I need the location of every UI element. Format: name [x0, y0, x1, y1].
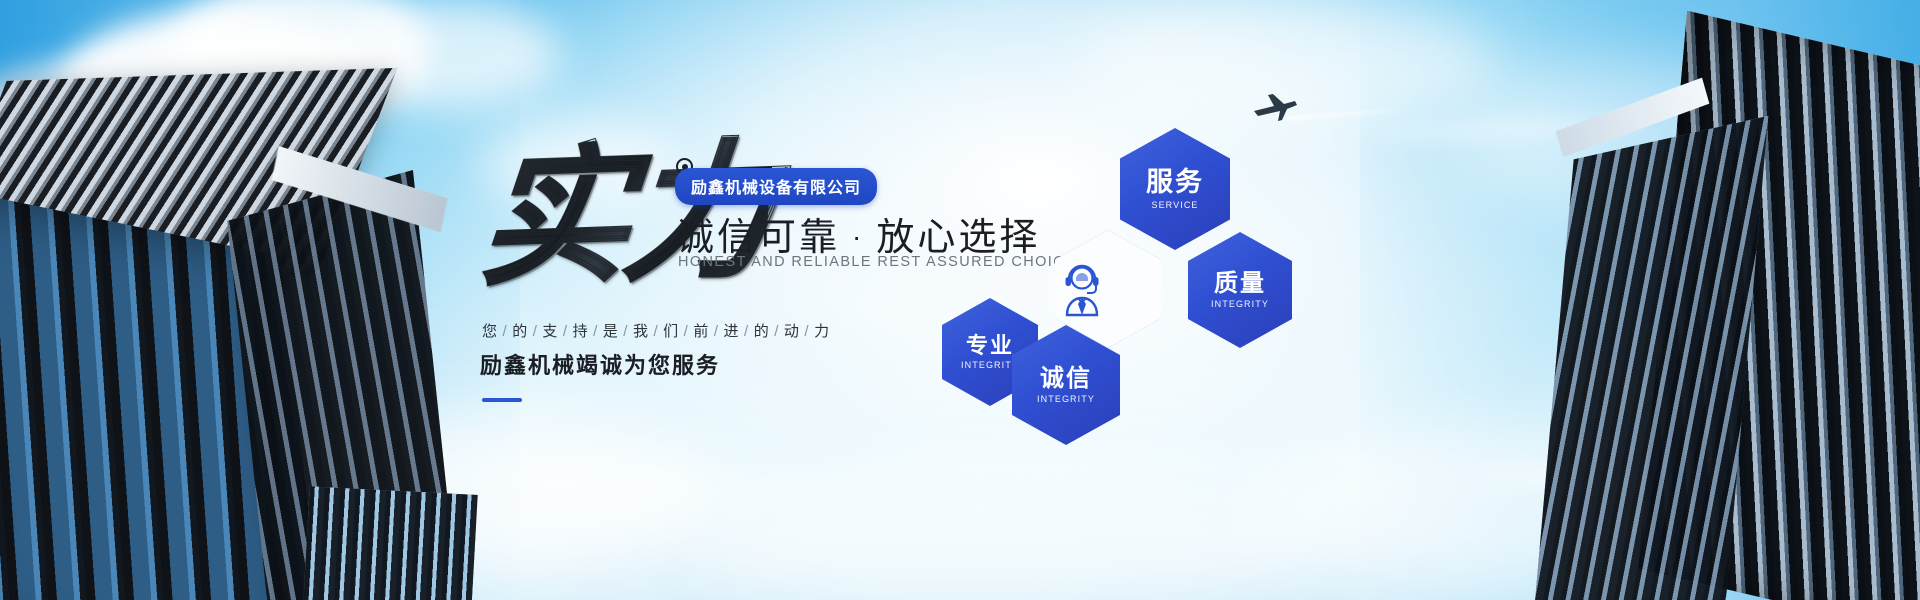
- slogan-char-separator: /: [593, 323, 598, 340]
- slogan-char: 力: [814, 323, 830, 340]
- slogan-char: 持: [573, 323, 589, 340]
- company-name-badge: 励鑫机械设备有限公司: [675, 168, 877, 205]
- slogan-main: 励鑫机械竭诚为您服务: [480, 348, 720, 380]
- slogan-spaced: 您/的/支/持/是/我/们/前/进/的/动/力: [482, 320, 830, 341]
- skyscraper-right: [1524, 42, 1920, 600]
- skyscraper-left: [0, 70, 490, 600]
- slogan-char-separator: /: [774, 323, 779, 340]
- slogan-char: 动: [784, 323, 800, 340]
- hexagon-label-en: INTEGRITY: [961, 360, 1019, 370]
- slogan-char-separator: /: [684, 323, 689, 340]
- hexagon-label-en: SERVICE: [1151, 200, 1198, 210]
- hexagon-badge-group: 服务 SERVICE 质量 INTEGRITY 专业 INTEGRITY 诚信 …: [930, 110, 1310, 420]
- hexagon-label-cn: 诚信: [1040, 366, 1092, 392]
- slogan-char-separator: /: [744, 323, 749, 340]
- slogan-char: 是: [603, 323, 619, 340]
- hexagon-label-cn: 专业: [966, 334, 1014, 358]
- slogan-char: 们: [663, 323, 679, 340]
- hexagon-label-cn: 质量: [1214, 271, 1266, 297]
- hexagon-badge-service: 服务 SERVICE: [1120, 128, 1230, 250]
- tagline-part1: 诚信可靠: [676, 217, 840, 259]
- building-secondary: [299, 486, 477, 600]
- slogan-char-separator: /: [804, 323, 809, 340]
- tagline-separator: ·: [852, 221, 864, 252]
- hexagon-badge-quality: 质量 INTEGRITY: [1188, 232, 1292, 348]
- slogan-char: 您: [482, 323, 498, 340]
- slogan-char-separator: /: [503, 323, 508, 340]
- hexagon-label-en: INTEGRITY: [1037, 394, 1095, 404]
- slogan-char: 我: [633, 323, 649, 340]
- slogan-char-separator: /: [653, 323, 658, 340]
- slogan-char: 的: [754, 323, 770, 340]
- slogan-char: 前: [693, 323, 709, 340]
- slogan-char-separator: /: [623, 323, 628, 340]
- cloud: [700, 470, 1320, 600]
- customer-service-operator-icon: [1056, 260, 1108, 318]
- slogan-char: 进: [724, 323, 740, 340]
- hexagon-label-en: INTEGRITY: [1211, 299, 1269, 309]
- slogan-char-separator: /: [533, 323, 538, 340]
- underline-accent: [482, 398, 522, 402]
- hexagon-label-cn: 服务: [1146, 168, 1204, 197]
- slogan-char: 的: [512, 323, 528, 340]
- slogan-char-separator: /: [714, 323, 719, 340]
- promotional-banner: 实力 励鑫机械设备有限公司 诚信可靠·放心选择 HONEST AND RELIA…: [0, 0, 1920, 600]
- slogan-char-separator: /: [563, 323, 568, 340]
- slogan-char: 支: [542, 323, 558, 340]
